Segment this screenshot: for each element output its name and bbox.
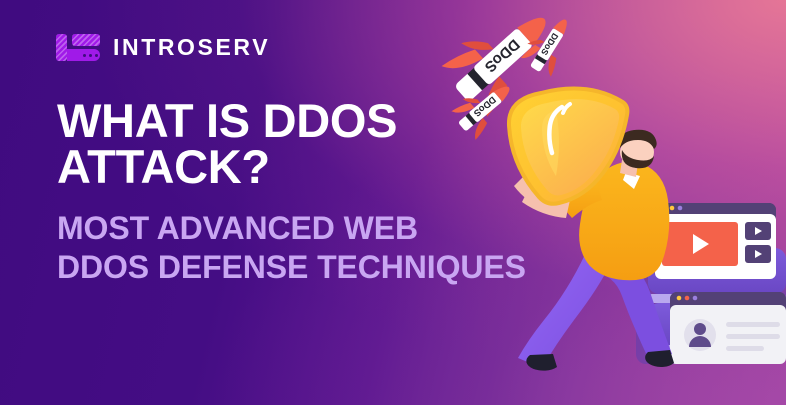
page-subtitle: MOST ADVANCED WEB DDOS DEFENSE TECHNIQUE… (57, 189, 597, 287)
page-subtitle-line-1: MOST ADVANCED WEB (57, 209, 597, 248)
missile-label: DDoS (539, 31, 560, 57)
page-title-line-1: WHAT IS DDOS (57, 98, 597, 144)
brand-name: INTROSERV (113, 36, 270, 59)
headline-block: WHAT IS DDOS ATTACK? MOST ADVANCED WEB D… (57, 98, 597, 287)
missile-small-1: DDoS (518, 9, 581, 78)
missile-label: DDoS (481, 36, 523, 76)
page-subtitle-line-2: DDOS DEFENSE TECHNIQUES (57, 248, 597, 287)
server-rack-icon (56, 32, 100, 63)
page-title-line-2: ATTACK? (57, 144, 597, 190)
page-title: WHAT IS DDOS ATTACK? (57, 98, 597, 189)
server-stack-icon (636, 248, 786, 364)
user-profile-window-icon (670, 292, 786, 364)
brand-logo[interactable]: INTROSERV (56, 32, 270, 63)
video-player-window-icon (655, 203, 776, 279)
banner: DDoS DDoS DDoS (0, 0, 786, 405)
